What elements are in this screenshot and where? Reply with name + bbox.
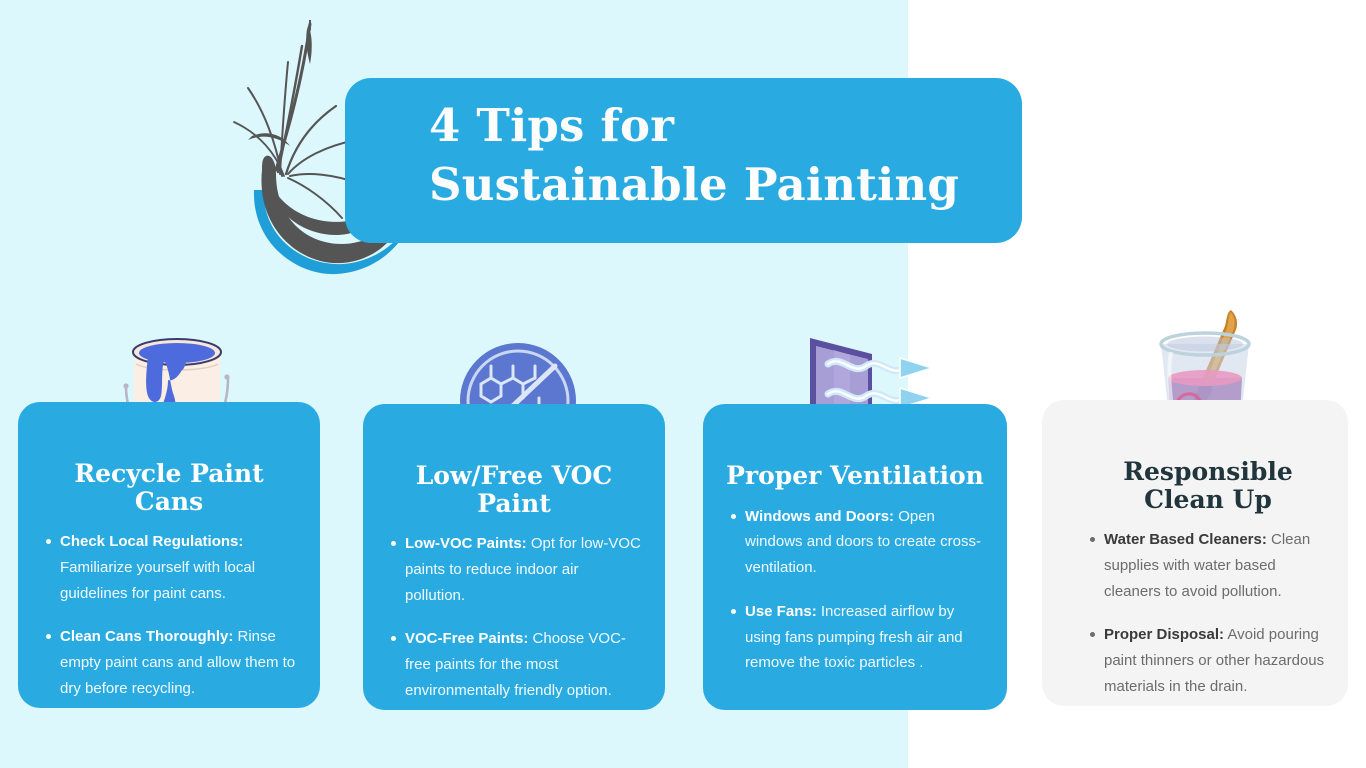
list-item: Low-VOC Paints: Opt for low-VOC paints t… xyxy=(405,531,641,608)
list-item: VOC-Free Paints: Choose VOC-free paints … xyxy=(405,626,641,703)
card-title: Proper Ventilation xyxy=(725,462,985,490)
point-text: Familiarize yourself with local guidelin… xyxy=(60,559,255,602)
point-lead: Check Local Regulations: xyxy=(60,533,243,550)
point-lead: Water Based Cleaners: xyxy=(1104,531,1267,548)
card-points-list: Check Local Regulations: Familiarize you… xyxy=(40,529,298,702)
page-title: 4 Tips for Sustainable Painting xyxy=(429,96,988,215)
card-title: Low/Free VOC Paint xyxy=(385,462,643,517)
title-banner: 4 Tips for Sustainable Painting xyxy=(345,78,1022,243)
point-lead: Use Fans: xyxy=(745,603,817,620)
list-item: Use Fans: Increased airflow by using fan… xyxy=(745,599,983,676)
card-low-free-voc-paint: Low/Free VOC Paint Low-VOC Paints: Opt f… xyxy=(363,404,665,710)
card-responsible-clean-up: Responsible Clean Up Water Based Cleaner… xyxy=(1042,400,1348,706)
point-lead: Low-VOC Paints: xyxy=(405,535,527,552)
card-proper-ventilation: Proper Ventilation Windows and Doors: Op… xyxy=(703,404,1007,710)
list-item: Water Based Cleaners: Clean supplies wit… xyxy=(1104,527,1332,604)
infographic-canvas: 4 Tips for Sustainable Painting xyxy=(0,0,1366,768)
list-item: Windows and Doors: Open windows and door… xyxy=(745,504,983,581)
list-item: Proper Disposal: Avoid pouring paint thi… xyxy=(1104,622,1332,699)
card-points-list: Water Based Cleaners: Clean supplies wit… xyxy=(1082,527,1334,700)
list-item: Clean Cans Thoroughly: Rinse empty paint… xyxy=(60,624,296,701)
card-title: Recycle Paint Cans xyxy=(40,460,298,515)
card-recycle-paint-cans: Recycle Paint Cans Check Local Regulatio… xyxy=(18,402,320,708)
point-lead: Windows and Doors: xyxy=(745,508,894,525)
point-lead: VOC-Free Paints: xyxy=(405,630,528,647)
card-title: Responsible Clean Up xyxy=(1082,458,1334,513)
card-points-list: Windows and Doors: Open windows and door… xyxy=(725,504,985,677)
list-item: Check Local Regulations: Familiarize you… xyxy=(60,529,296,606)
point-lead: Proper Disposal: xyxy=(1104,626,1224,643)
point-lead: Clean Cans Thoroughly: xyxy=(60,628,233,645)
card-points-list: Low-VOC Paints: Opt for low-VOC paints t… xyxy=(385,531,643,704)
